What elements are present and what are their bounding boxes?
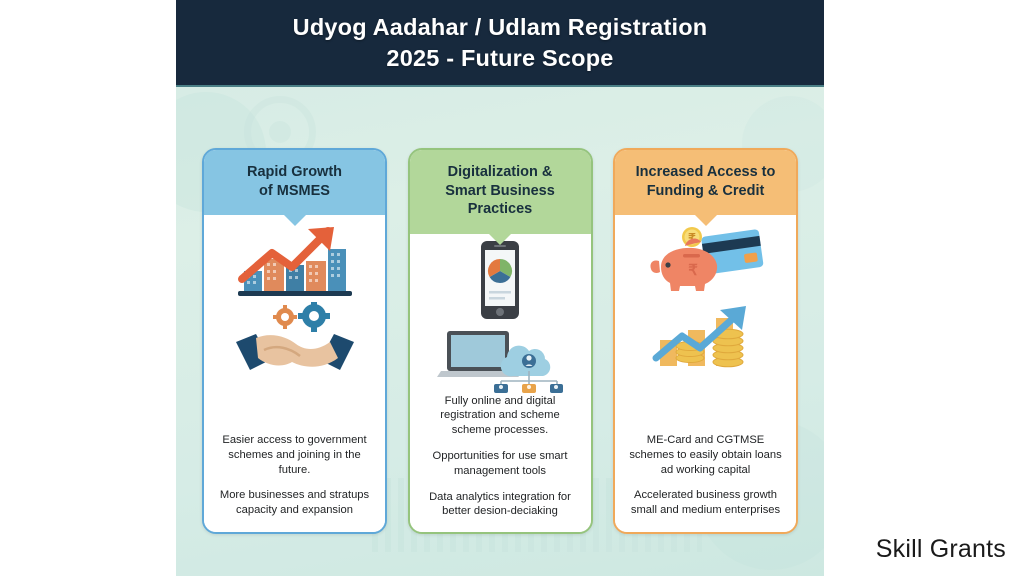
svg-text:₹: ₹ [688, 262, 698, 279]
page-title: Udyog Aadahar / Udlam Registration 2025 … [293, 12, 708, 72]
card-paragraph: Opportunities for use smart management t… [418, 449, 583, 479]
header-bar: Udyog Aadahar / Udlam Registration 2025 … [176, 0, 824, 87]
handshake-gears-icon [234, 301, 356, 375]
page-root: Udyog Aadahar / Udlam Registration 2025 … [0, 0, 1024, 576]
icon-stack [212, 219, 377, 375]
card-paragraph: Accelerated business growth small and me… [623, 488, 788, 518]
card-paragraph: Easier access to government schemes and … [212, 433, 377, 477]
coins-growth-arrow-icon [650, 299, 762, 371]
cards-row: Rapid Growth of MSMES [202, 148, 798, 534]
watermark-label: Skill Grants [876, 535, 1006, 564]
card-body-rapid-growth: Easier access to government schemes and … [204, 215, 385, 532]
laptop-cloud-network-icon [437, 322, 563, 394]
card-body-funding-credit: ₹ ₹ [615, 215, 796, 532]
icon-stack: ₹ ₹ [623, 219, 788, 371]
card-header-rapid-growth: Rapid Growth of MSMES [204, 150, 385, 215]
card-funding-credit[interactable]: Increased Access to Funding & Credit [613, 148, 798, 534]
card-digitalization[interactable]: Digitalization & Smart Business Practice… [408, 148, 593, 534]
growth-arrow-buildings-icon [230, 219, 360, 301]
card-header-funding-credit: Increased Access to Funding & Credit [615, 150, 796, 215]
card-paragraph: ME-Card and CGTMSE schemes to easily obt… [623, 433, 788, 477]
card-body-digitalization: Fully online and digital registration an… [410, 234, 591, 533]
card-rapid-growth[interactable]: Rapid Growth of MSMES [202, 148, 387, 534]
card-paragraph: More businesses and stratups capacity an… [212, 488, 377, 518]
text-stack: Fully online and digital registration an… [418, 394, 583, 523]
icon-stack [418, 238, 583, 394]
smartphone-pie-chart-icon [469, 238, 531, 322]
piggy-bank-credit-card-icon: ₹ ₹ [647, 219, 765, 299]
text-stack: Easier access to government schemes and … [212, 433, 377, 522]
card-paragraph: Data analytics integration for better de… [418, 490, 583, 520]
card-header-digitalization: Digitalization & Smart Business Practice… [410, 150, 591, 234]
text-stack: ME-Card and CGTMSE schemes to easily obt… [623, 433, 788, 522]
card-paragraph: Fully online and digital registration an… [418, 394, 583, 438]
infographic-canvas: Udyog Aadahar / Udlam Registration 2025 … [176, 0, 824, 576]
